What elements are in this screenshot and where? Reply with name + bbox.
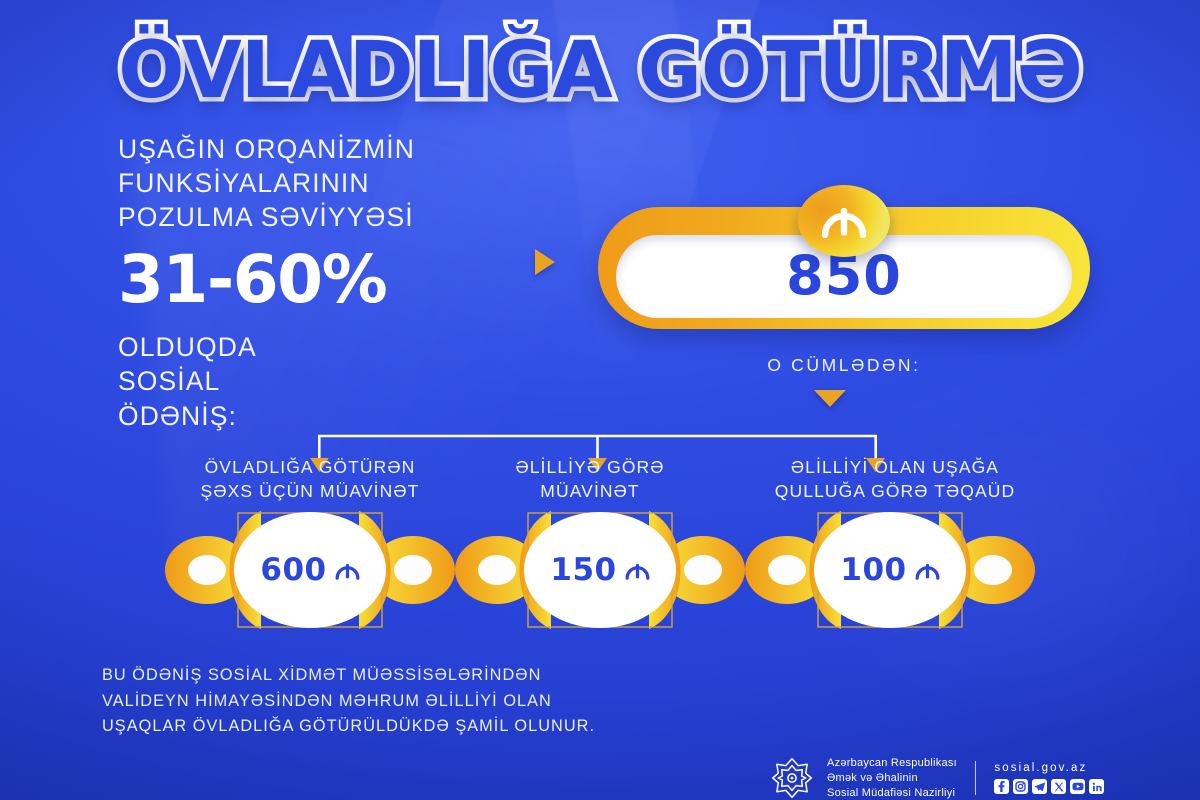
badge-ornament	[455, 505, 745, 635]
manat-coin	[798, 185, 890, 257]
page-title: ÖVLADLIĞA GÖTÜRMƏ	[118, 32, 1081, 110]
arrow-right-icon	[535, 249, 555, 275]
instagram-icon[interactable]	[1013, 779, 1028, 794]
ministry-name: Azərbaycan Respublikası Əmək və Əhalinin…	[827, 756, 957, 800]
badge-ornament	[165, 505, 455, 635]
branch-3-label: ƏLİLLİYİ OLAN UŞAĞA QULLUĞA GÖRƏ TƏQAÜD	[705, 455, 1085, 503]
criteria-text: UŞAĞIN ORQANİZMİN FUNKSİYALARININ POZULM…	[118, 133, 538, 235]
footer: Azərbaycan Respublikası Əmək və Əhalinin…	[770, 756, 1104, 800]
arrow-down-icon	[814, 390, 846, 407]
branch-2-amount-badge: 150	[455, 505, 745, 635]
ministry-emblem-icon	[770, 756, 814, 800]
payment-label: OLDUQDA SOSİAL ÖDƏNİŞ:	[118, 330, 538, 433]
total-amount-badge: 850	[598, 207, 1090, 329]
branch-1-amount-badge: 600	[165, 505, 455, 635]
linkedin-icon[interactable]	[1089, 779, 1104, 794]
footnote-text: BU ÖDƏNİŞ SOSİAL XİDMƏT MÜƏSSİSƏLƏRİNDƏN…	[102, 663, 595, 740]
branch-1-label: ÖVLADLIĞA GÖTÜRƏN ŞƏXS ÜÇÜN MÜAVİNƏT	[130, 455, 490, 503]
infographic-poster: ÖVLADLIĞA GÖTÜRMƏ UŞAĞIN ORQANİZMİN FUNK…	[0, 0, 1200, 800]
youtube-icon[interactable]	[1070, 779, 1085, 794]
percentage-value: 31-60%	[118, 247, 538, 313]
branch-3: ƏLİLLİYİ OLAN UŞAĞA QULLUĞA GÖRƏ TƏQAÜD	[705, 455, 1085, 503]
website-url[interactable]: sosial.gov.az	[994, 762, 1104, 774]
manat-icon	[821, 204, 867, 238]
of-which-caption: O CÜMLƏDƏN:	[598, 355, 1090, 376]
facebook-icon[interactable]	[994, 779, 1009, 794]
left-text-column: UŞAĞIN ORQANİZMİN FUNKSİYALARININ POZULM…	[118, 133, 538, 433]
footer-divider	[975, 761, 977, 795]
branch-2: ƏLİLLİYƏ GÖRƏ MÜAVİNƏT	[445, 455, 735, 503]
social-links	[994, 779, 1104, 794]
branch-2-label: ƏLİLLİYƏ GÖRƏ MÜAVİNƏT	[445, 455, 735, 503]
badge-ornament	[745, 505, 1035, 635]
x-twitter-icon[interactable]	[1051, 779, 1066, 794]
branch-3-amount-badge: 100	[745, 505, 1035, 635]
footer-right: sosial.gov.az	[994, 762, 1104, 794]
title-container: ÖVLADLIĞA GÖTÜRMƏ	[0, 32, 1200, 110]
branch-1: ÖVLADLIĞA GÖTÜRƏN ŞƏXS ÜÇÜN MÜAVİNƏT	[130, 455, 490, 503]
telegram-icon[interactable]	[1032, 779, 1047, 794]
